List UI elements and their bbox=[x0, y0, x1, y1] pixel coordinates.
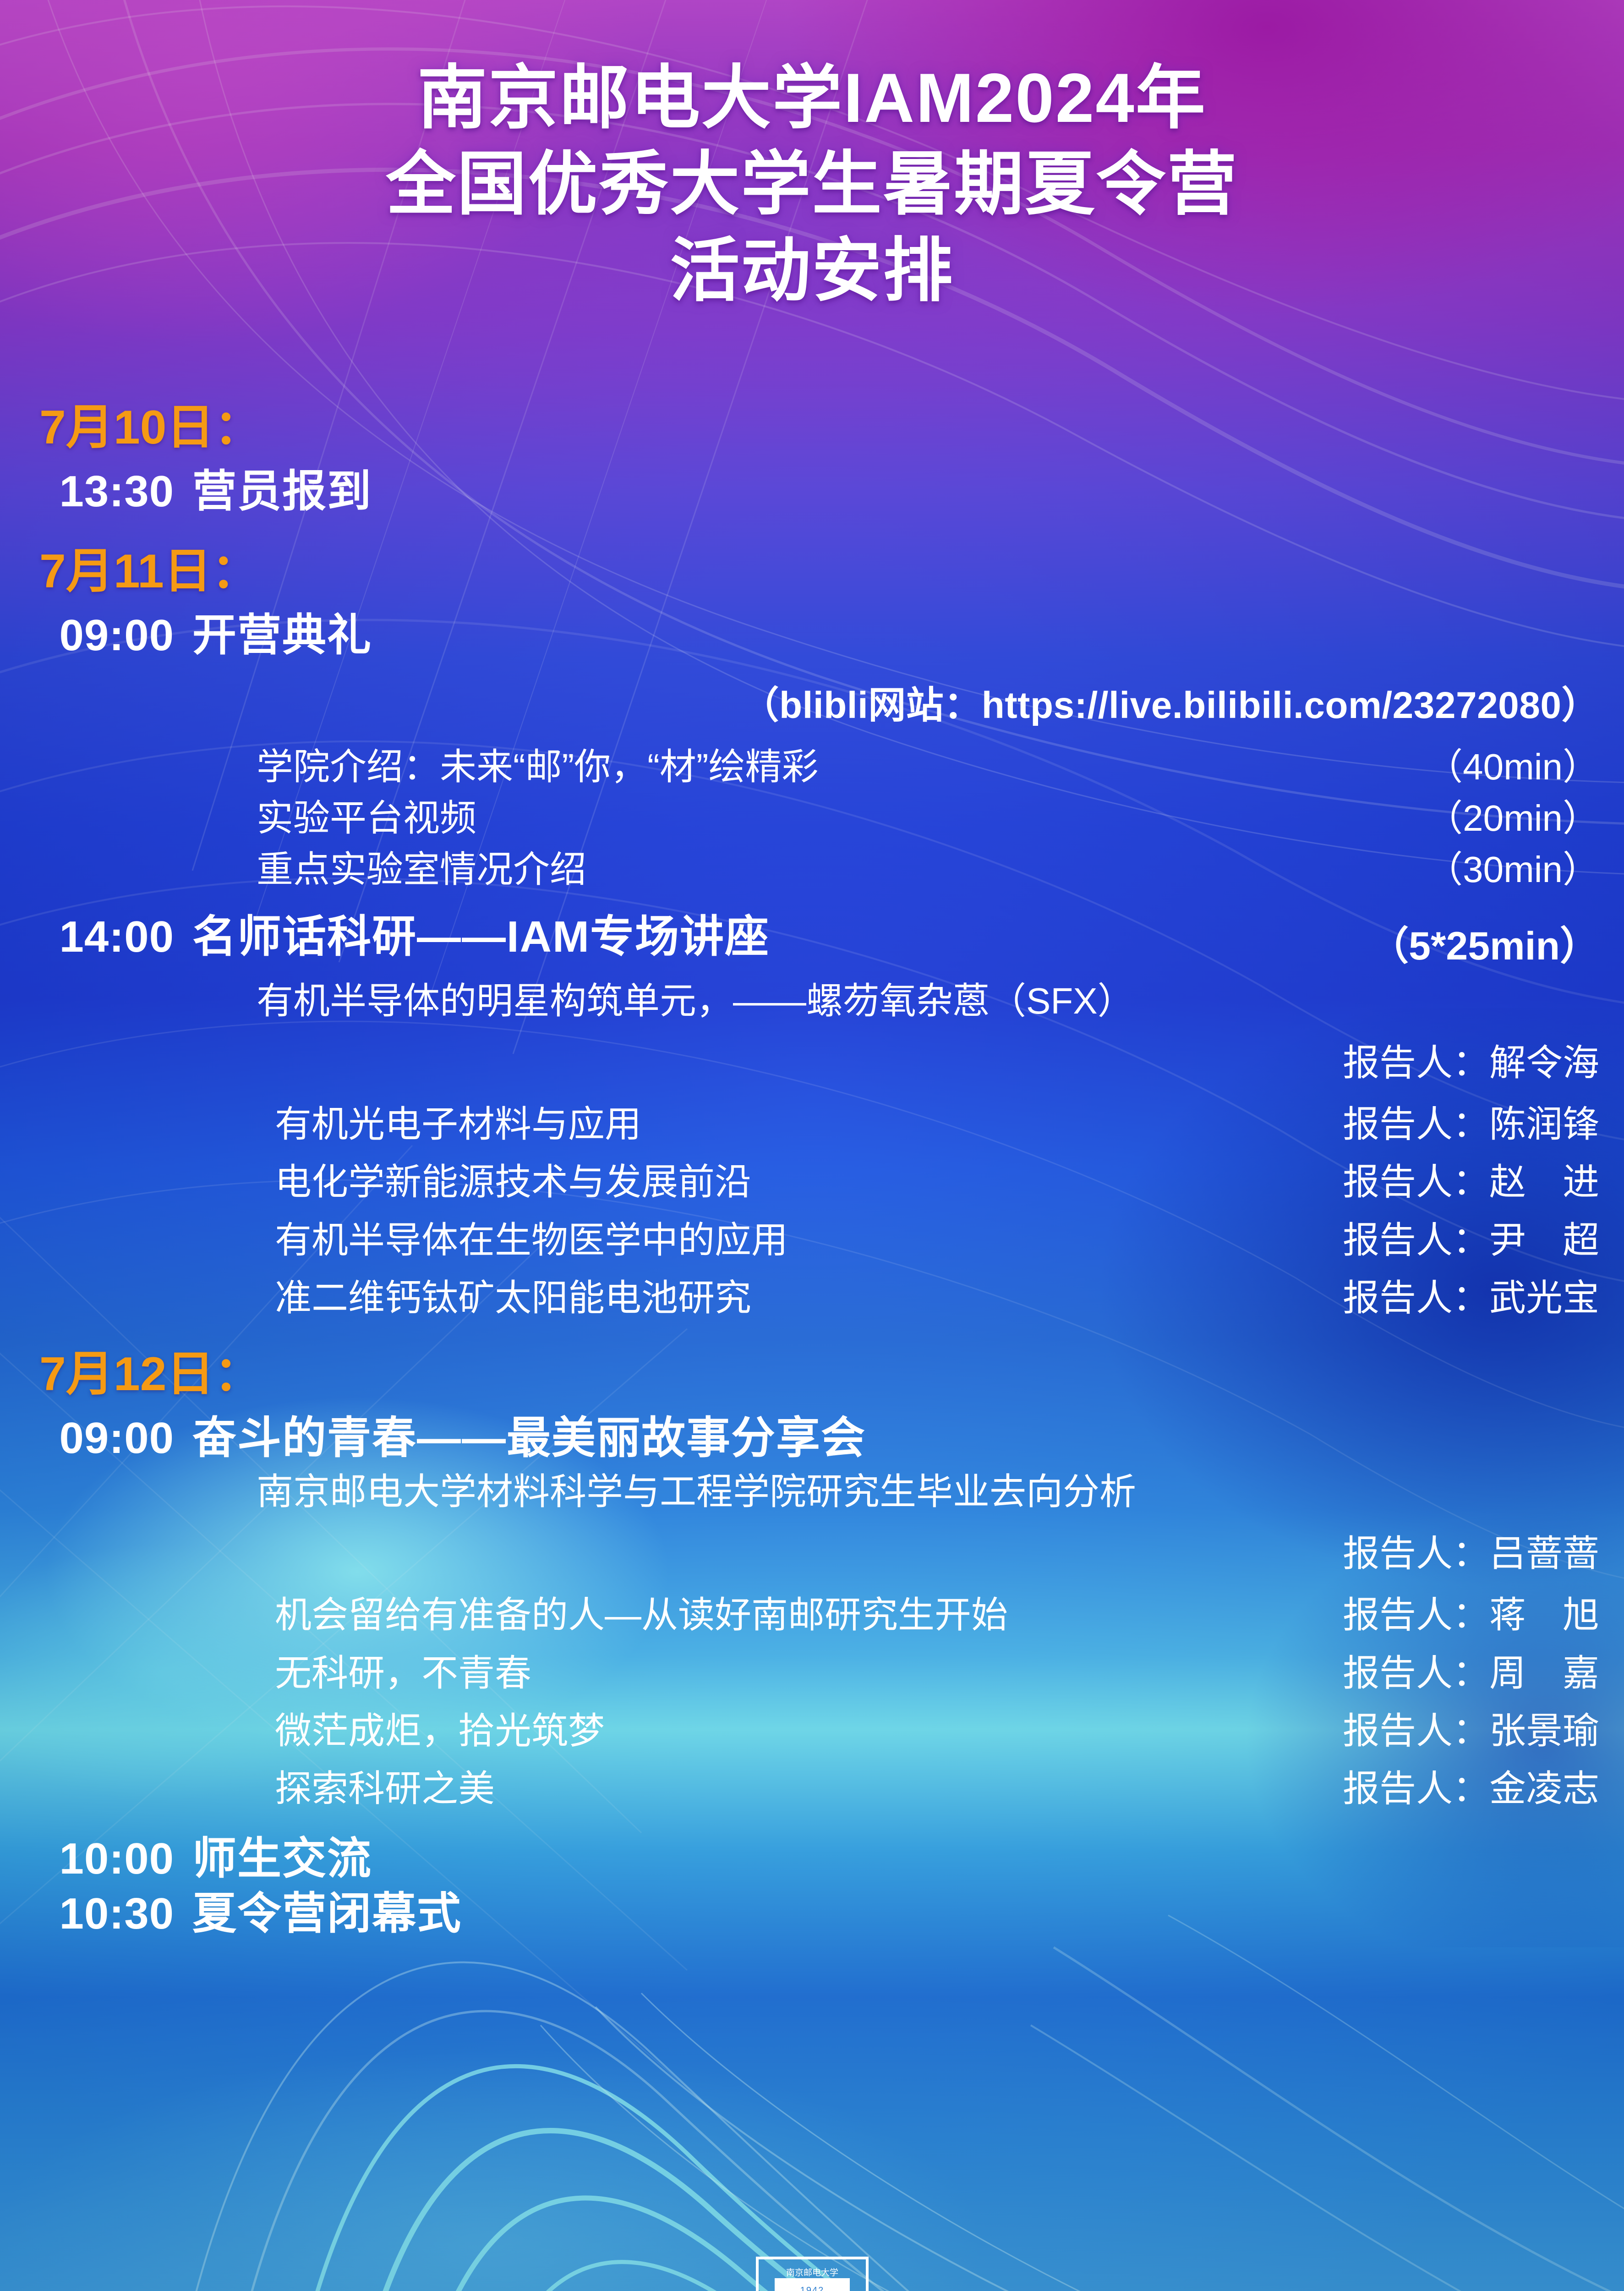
talk-speaker: 报告人：金凌志 bbox=[1343, 1769, 1624, 1809]
day-block-jul12: 7月12日： 09:00 奋斗的青春——最美丽故事分享会 南京邮电大学材料科学与… bbox=[0, 1350, 1624, 1937]
lecture-speaker: 报告人：武光宝 bbox=[1343, 1278, 1624, 1318]
talk-title: 探索科研之美 bbox=[275, 1769, 495, 1809]
subitem-row: 实验平台视频 （20min） bbox=[0, 799, 1624, 838]
schedule-row-opening: 09:00 开营典礼 bbox=[0, 612, 1624, 659]
poster-root: 南京邮电大学IAM2024年 全国优秀大学生暑期夏令营 活动安排 7月10日： … bbox=[0, 0, 1624, 2291]
lecture-title: 有机光电子材料与应用 bbox=[275, 1105, 641, 1144]
day-block-jul11: 7月11日： 09:00 开营典礼 （blibli网站：https://live… bbox=[0, 547, 1624, 1318]
lecture-title-lead: 有机半导体的明星构筑单元，——螺芴氧杂蒽（SFX） bbox=[0, 981, 1624, 1021]
subitem-duration: （20min） bbox=[1426, 799, 1624, 838]
schedule-row-checkin: 13:30 营员报到 bbox=[0, 468, 1624, 515]
talk-row: 微茫成炬，拾光筑梦 报告人：张景瑜 bbox=[0, 1711, 1624, 1751]
talk-title: 机会留给有准备的人—从读好南邮研究生开始 bbox=[275, 1595, 1008, 1635]
talk-speaker: 报告人：蒋 旭 bbox=[1343, 1595, 1624, 1635]
schedule-row-lecture-series: 14:00 名师话科研——IAM专场讲座 （5*25min） bbox=[0, 914, 1624, 971]
talk-row: 无科研，不青春 报告人：周 嘉 bbox=[0, 1654, 1624, 1693]
event-duration: （5*25min） bbox=[1369, 914, 1624, 971]
lecture-title: 电化学新能源技术与发展前沿 bbox=[275, 1162, 751, 1202]
talk-title: 无科研，不青春 bbox=[275, 1654, 531, 1693]
logo-cn-name: 南京邮电大学 bbox=[786, 2268, 838, 2278]
talk-speaker: 报告人：周 嘉 bbox=[1343, 1654, 1624, 1693]
talk-row: 探索科研之美 报告人：金凌志 bbox=[0, 1769, 1624, 1809]
time-label: 14:00 bbox=[0, 914, 192, 960]
subitem-row: 重点实验室情况介绍 （30min） bbox=[0, 850, 1624, 889]
lecture-row: 电化学新能源技术与发展前沿 报告人：赵 进 bbox=[0, 1162, 1624, 1202]
day-block-jul10: 7月10日： 13:30 营员报到 bbox=[0, 403, 1624, 515]
schedule: 7月10日： 13:30 营员报到 7月11日： 09:00 开营典礼 （bli… bbox=[0, 403, 1624, 1937]
shield-logo-icon: 1942 南京邮电大学 Nanjing University of Posts … bbox=[744, 2250, 881, 2291]
event-label: 奋斗的青春——最美丽故事分享会 bbox=[192, 1415, 866, 1462]
subitem-label: 实验平台视频 bbox=[257, 799, 476, 838]
event-label: 开营典礼 bbox=[192, 612, 372, 659]
talk-speaker-lead: 报告人：吕蔷蔷 bbox=[0, 1524, 1624, 1577]
title-line-3: 活动安排 bbox=[0, 228, 1624, 314]
lecture-title: 有机半导体在生物医学中的应用 bbox=[275, 1221, 788, 1260]
time-label: 10:00 bbox=[0, 1836, 192, 1882]
date-heading-jul12: 7月12日： bbox=[39, 1350, 1624, 1398]
talk-title-lead: 南京邮电大学材料科学与工程学院研究生毕业去向分析 bbox=[0, 1472, 1624, 1512]
subitem-row: 学院介绍：未来“邮”你，“材”绘精彩 （40min） bbox=[0, 747, 1624, 787]
subitem-duration: （30min） bbox=[1426, 850, 1624, 889]
subitem-label: 学院介绍：未来“邮”你，“材”绘精彩 bbox=[257, 747, 819, 787]
talk-row: 机会留给有准备的人—从读好南邮研究生开始 报告人：蒋 旭 bbox=[0, 1595, 1624, 1635]
event-label: 营员报到 bbox=[192, 468, 372, 515]
lecture-speaker: 报告人：赵 进 bbox=[1343, 1162, 1624, 1202]
subitem-duration: （40min） bbox=[1426, 747, 1624, 787]
title-line-2: 全国优秀大学生暑期夏令营 bbox=[0, 141, 1624, 227]
university-logo: 1942 南京邮电大学 Nanjing University of Posts … bbox=[744, 2250, 881, 2291]
event-label: 名师话科研——IAM专场讲座 bbox=[192, 914, 770, 960]
title-line-1: 南京邮电大学IAM2024年 bbox=[0, 55, 1624, 141]
lecture-speaker: 报告人：陈润锋 bbox=[1343, 1105, 1624, 1144]
schedule-row-closing: 10:30 夏令营闭幕式 bbox=[0, 1891, 1624, 1937]
time-label: 13:30 bbox=[0, 468, 192, 515]
time-label: 09:00 bbox=[0, 1415, 192, 1462]
date-heading-jul11: 7月11日： bbox=[39, 547, 1624, 596]
schedule-row-qa: 10:00 师生交流 bbox=[0, 1836, 1624, 1882]
date-heading-jul10: 7月10日： bbox=[39, 403, 1624, 452]
subitem-label: 重点实验室情况介绍 bbox=[257, 850, 586, 889]
lecture-row: 准二维钙钛矿太阳能电池研究 报告人：武光宝 bbox=[0, 1278, 1624, 1318]
time-label: 10:30 bbox=[0, 1891, 192, 1937]
lecture-row: 有机半导体在生物医学中的应用 报告人：尹 超 bbox=[0, 1221, 1624, 1260]
livestream-url-note[interactable]: （blibli网站：https://live.bilibili.com/2327… bbox=[0, 674, 1624, 729]
footer: 信达天下 1942 南京邮电大学 bbox=[0, 2250, 1624, 2291]
lecture-row: 有机光电子材料与应用 报告人：陈润锋 bbox=[0, 1105, 1624, 1144]
schedule-row-story-session: 09:00 奋斗的青春——最美丽故事分享会 bbox=[0, 1415, 1624, 1462]
lecture-title: 准二维钙钛矿太阳能电池研究 bbox=[275, 1278, 751, 1318]
event-label: 夏令营闭幕式 bbox=[192, 1891, 462, 1937]
poster-content: 南京邮电大学IAM2024年 全国优秀大学生暑期夏令营 活动安排 7月10日： … bbox=[0, 0, 1624, 2291]
event-label: 师生交流 bbox=[192, 1836, 372, 1882]
lecture-speaker: 报告人：尹 超 bbox=[1343, 1221, 1624, 1260]
logo-year: 1942 bbox=[800, 2286, 824, 2291]
talk-speaker: 报告人：张景瑜 bbox=[1343, 1711, 1624, 1751]
time-label: 09:00 bbox=[0, 612, 192, 659]
talk-title: 微茫成炬，拾光筑梦 bbox=[275, 1711, 605, 1751]
page-title: 南京邮电大学IAM2024年 全国优秀大学生暑期夏令营 活动安排 bbox=[0, 55, 1624, 314]
lecture-speaker-lead: 报告人：解令海 bbox=[0, 1033, 1624, 1086]
